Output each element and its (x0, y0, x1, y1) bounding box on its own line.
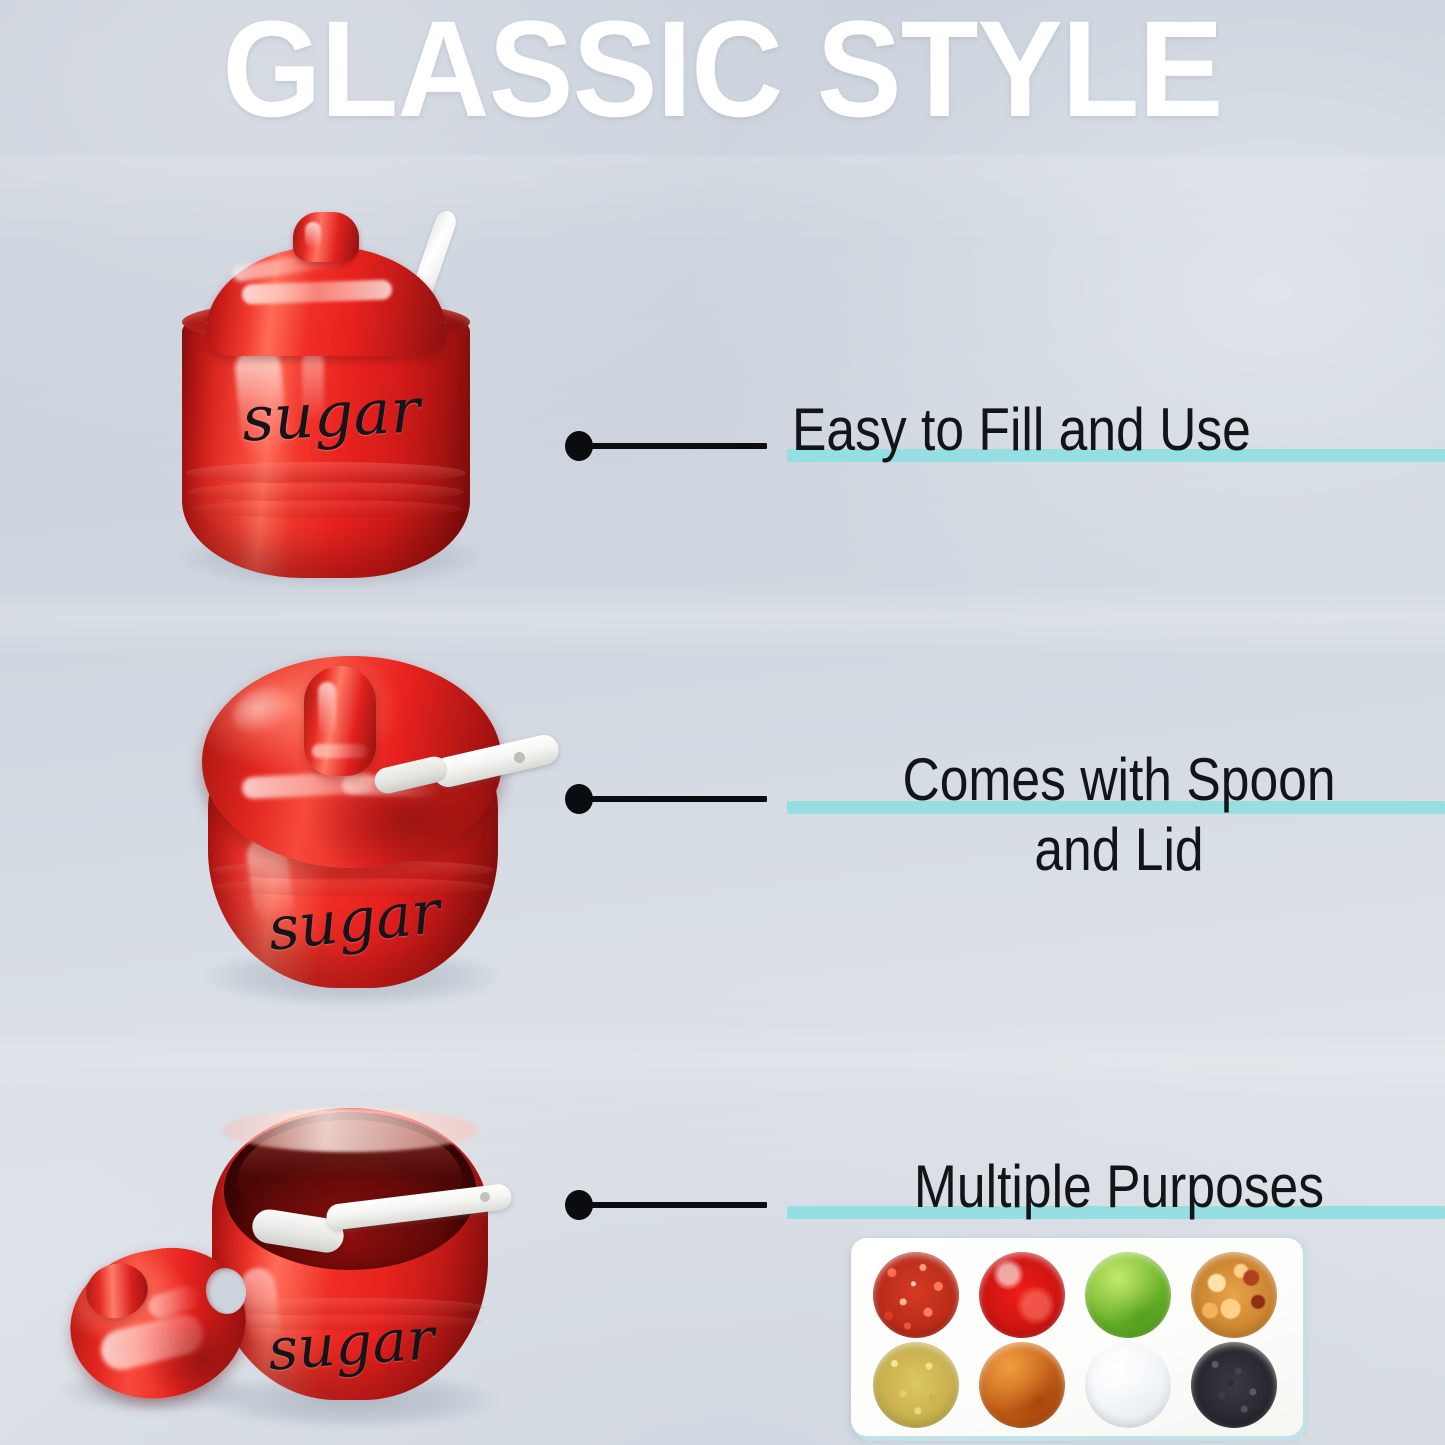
jar-lid-knob (293, 212, 359, 262)
callout-marker-dot (565, 784, 593, 814)
callout-leader-line (589, 796, 767, 802)
spice-cell-fried-garlic-chili (1191, 1252, 1277, 1338)
callout-highlight-bar (787, 1206, 1445, 1219)
product-feature-graphic: GLASSIC STYLE sugar (0, 0, 1445, 1445)
callout-highlight-bar (787, 801, 1445, 814)
callout-marker-dot (565, 431, 593, 461)
spice-cell-mustard-seeds (873, 1342, 959, 1428)
callout-label: Multiple Purposes (840, 1152, 1397, 1222)
callout-leader-line (589, 443, 767, 449)
spice-cell-black-sesame (1191, 1342, 1277, 1428)
spice-cell-salt (1085, 1342, 1171, 1428)
jar-lid-knob-gloss (318, 682, 336, 736)
spoon-hole (480, 1192, 490, 1202)
product-jar-open: sugar (56, 1072, 556, 1442)
callout-highlight-bar (787, 449, 1445, 462)
spice-cell-matcha-powder (1085, 1252, 1171, 1338)
spice-cell-chili-paste (979, 1252, 1065, 1338)
callout-leader-line (589, 1202, 767, 1208)
jar-rib-1 (186, 462, 466, 484)
jar-lid-knob (304, 666, 376, 776)
spice-cell-chili-powder (979, 1342, 1065, 1428)
spice-cell-chopped-chili (873, 1252, 959, 1338)
backdrop-seam-middle (0, 586, 1445, 656)
jar-lid-knob-gloss (305, 222, 321, 248)
jar-rib-2 (188, 482, 464, 502)
jar-lid-knob-base-gloss (312, 744, 368, 758)
jar-rib-3 (190, 500, 462, 518)
callout-label: Easy to Fill and Use (792, 395, 1394, 465)
jar-rim-edge (222, 1108, 478, 1152)
callout-label: Comes with Spoon and Lid (840, 745, 1397, 885)
page-title: GLASSIC STYLE (51, 0, 1395, 144)
jar-label: sugar (266, 1304, 437, 1383)
spice-tray (851, 1238, 1303, 1436)
callout-marker-dot (565, 1190, 593, 1220)
product-jar-closed: sugar (176, 196, 526, 596)
jar-label: sugar (240, 373, 422, 455)
product-jar-top-view: sugar (196, 648, 566, 1018)
